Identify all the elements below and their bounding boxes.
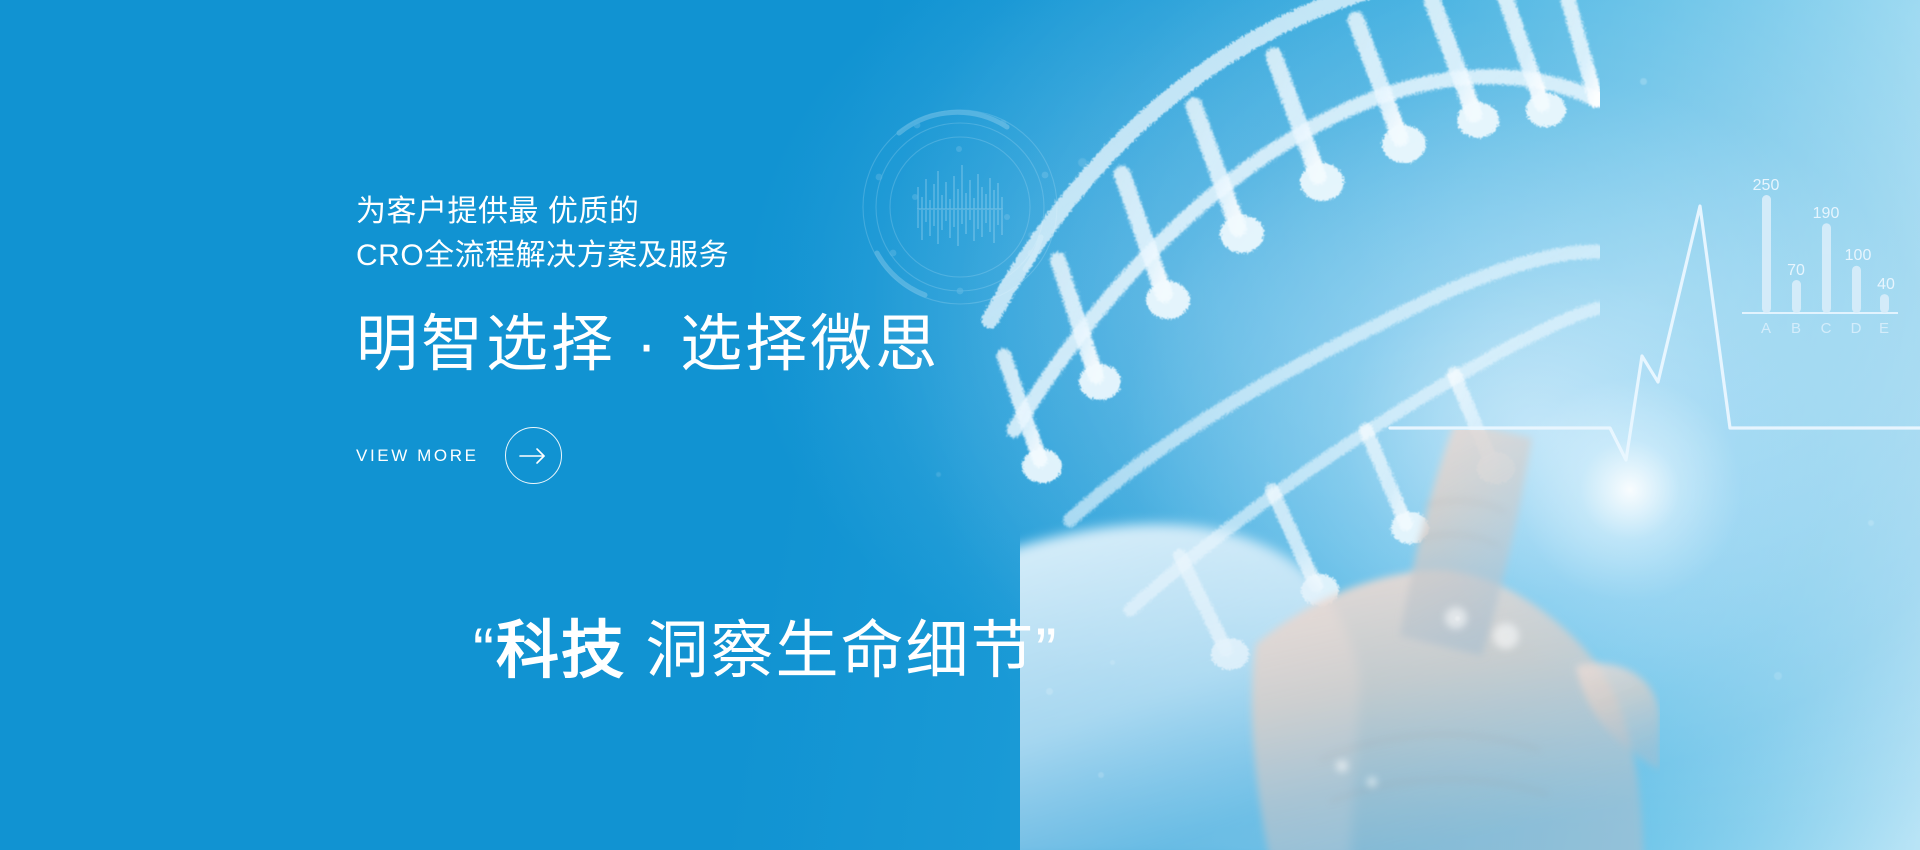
hero-subtitle: 为客户提供最 优质的 CRO全流程解决方案及服务 <box>356 190 1116 278</box>
hero-headline: 明智选择 · 选择微思 <box>356 310 1116 379</box>
view-more-label: VIEW MORE <box>356 446 479 466</box>
hero-banner: 250 70 190 100 40 A B C D E <box>0 0 1920 850</box>
quote-close-mark: ” <box>1036 616 1059 686</box>
view-more-button[interactable]: VIEW MORE <box>356 427 546 484</box>
quote-rest: 洞察生命细节 <box>626 616 1036 686</box>
hero-copy: 为客户提供最 优质的 CRO全流程解决方案及服务 明智选择 · 选择微思 VIE… <box>356 190 1116 756</box>
hero-quote: “科技 洞察生命细节” <box>356 548 1116 756</box>
arrow-right-icon[interactable] <box>505 427 562 484</box>
quote-emphasis: 科技 <box>496 616 626 686</box>
quote-open-mark: “ <box>473 616 496 686</box>
